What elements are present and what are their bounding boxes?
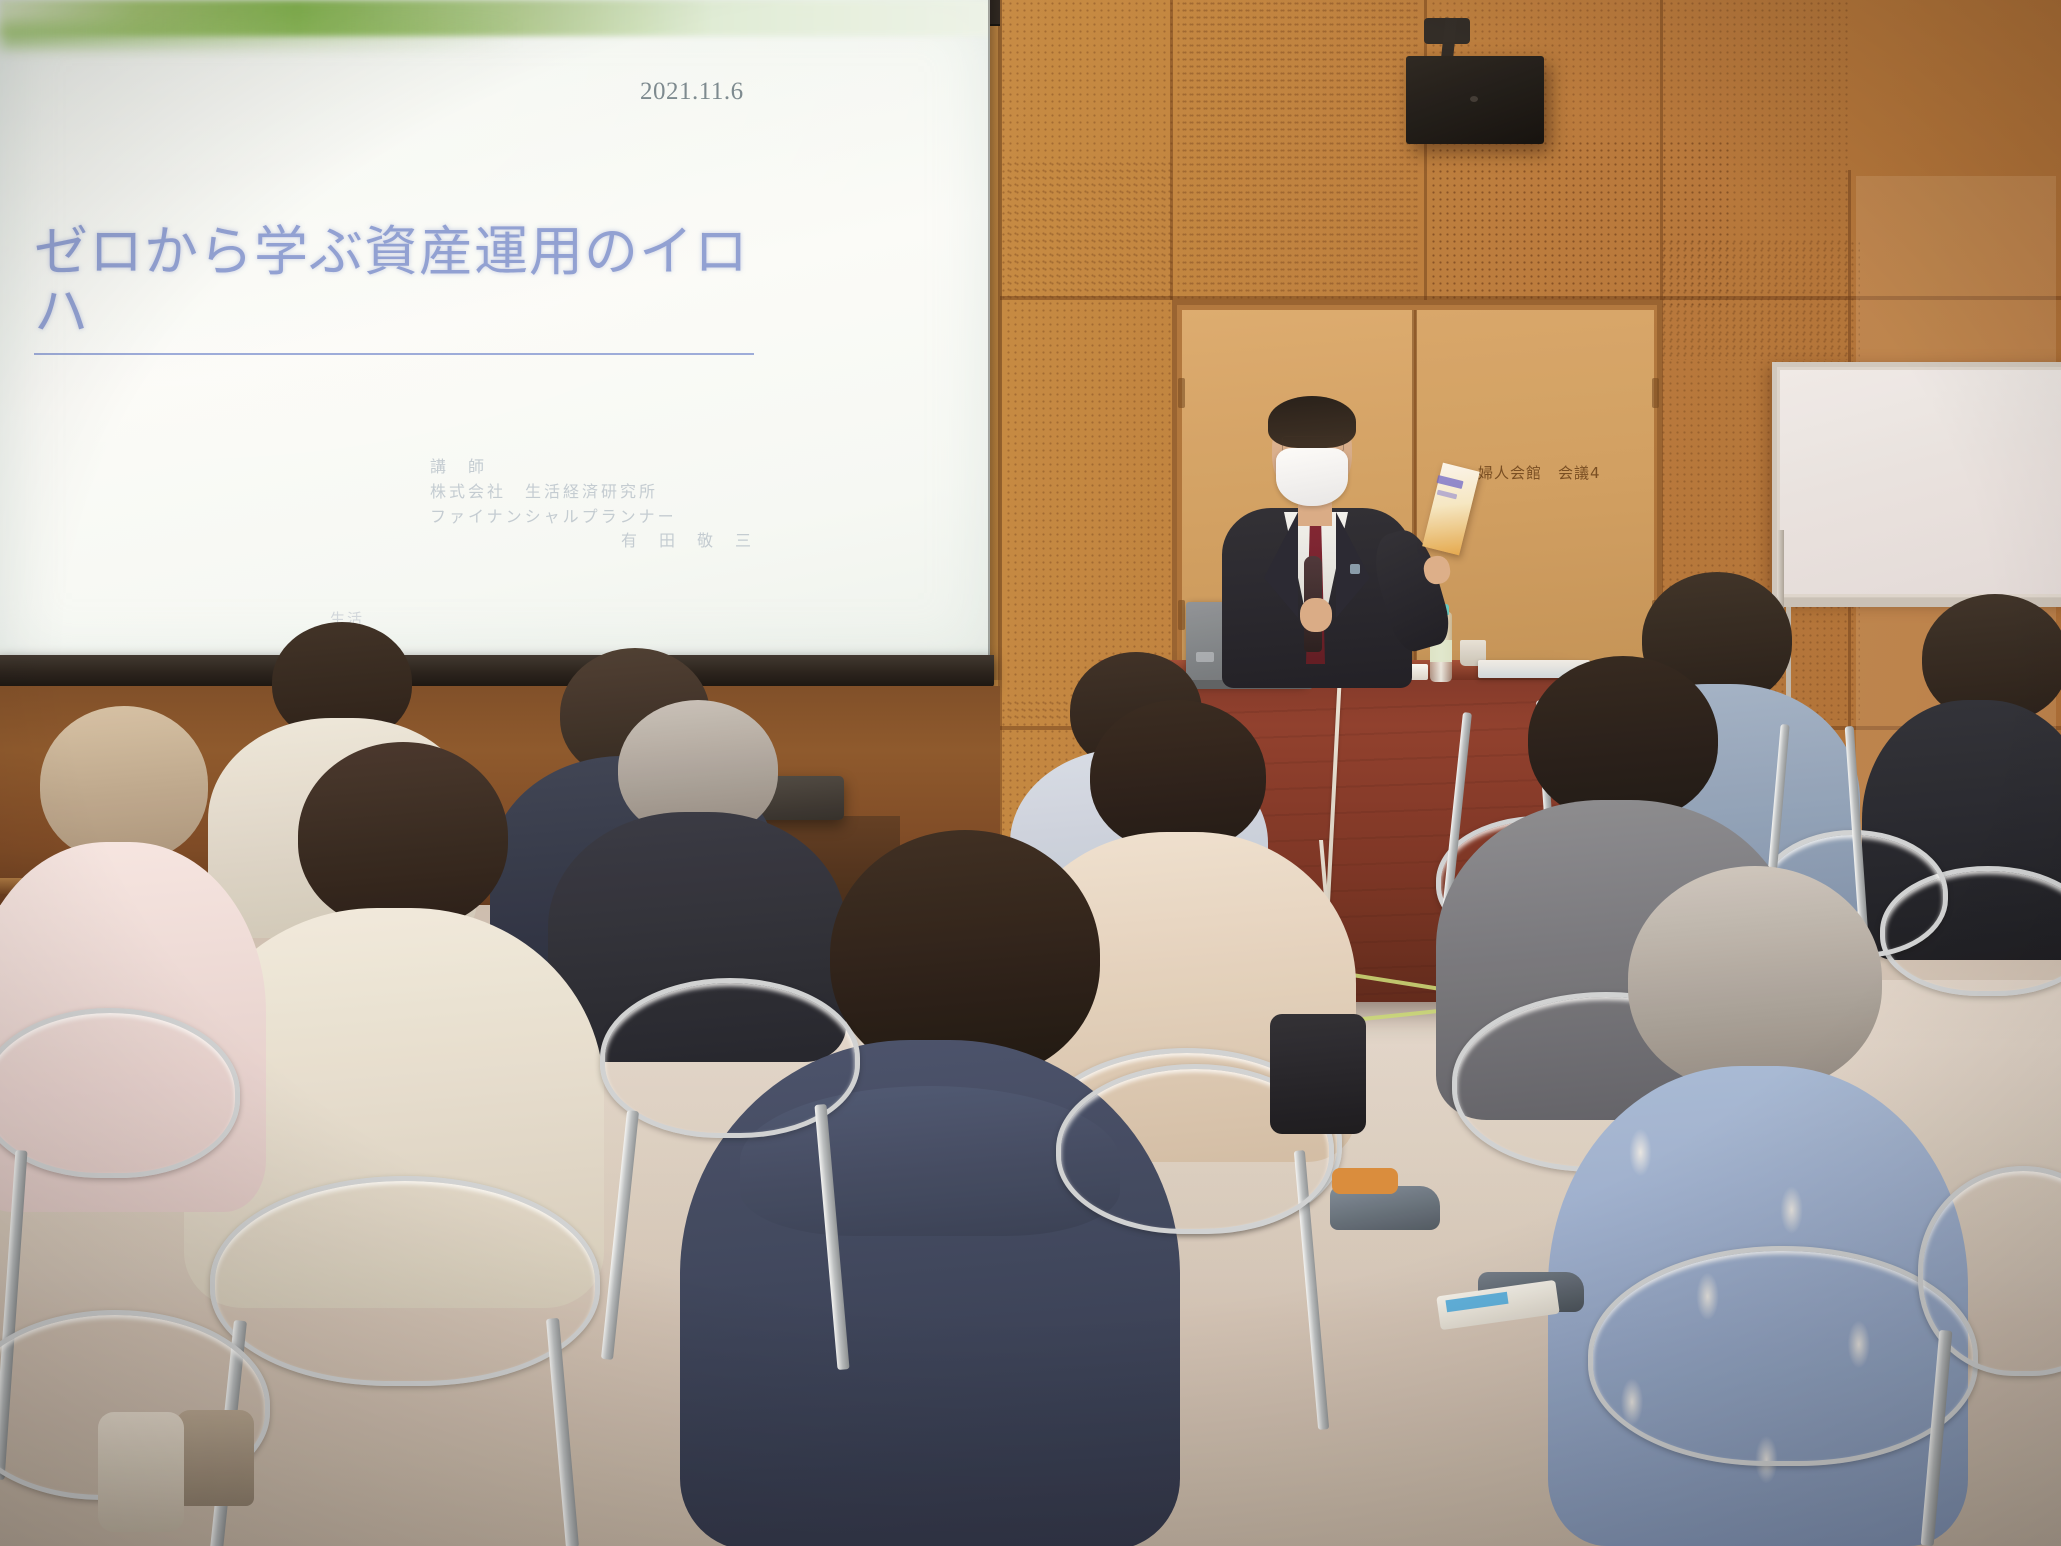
seminar-photograph: 婦人会館 会議4 2021.11.6 ゼロから学ぶ資産運用のイロハ 講 師 株式…: [0, 0, 2061, 1546]
wall-seam: [1424, 0, 1427, 300]
slide-credits: 講 師 株式会社 生活経済研究所 ファイナンシャルプランナー 有 田 敬 三: [430, 455, 760, 554]
slide-date: 2021.11.6: [640, 78, 744, 106]
slide-credit-line: 株式会社 生活経済研究所: [430, 480, 760, 505]
speaker-hand: [1300, 598, 1332, 632]
wall-seam: [1170, 0, 1173, 300]
slide-accent-band-soft: [0, 22, 520, 48]
attendee-head: [1528, 656, 1718, 822]
door-hinge-icon: [1178, 378, 1185, 408]
face-mask-icon: [1276, 448, 1348, 506]
acoustic-panel: [1180, 0, 1420, 292]
door-hinge-icon: [1178, 600, 1185, 630]
acoustic-panel: [1005, 160, 1175, 720]
slide-credit-line: ファイナンシャルプランナー: [430, 505, 760, 530]
slide-credit-line: 講 師: [430, 455, 760, 480]
attendee-head: [1628, 866, 1882, 1092]
attendee-head: [1090, 700, 1266, 852]
attendee-bag: [1270, 1014, 1366, 1134]
pa-speaker-driver-icon: [1470, 96, 1478, 102]
chair-back[interactable]: [0, 1008, 240, 1178]
screen-bottom-bar: [0, 655, 994, 687]
whiteboard-surface[interactable]: [1780, 370, 2061, 594]
chair-back[interactable]: [210, 1176, 600, 1386]
attendee-sock: [1332, 1168, 1398, 1194]
slide-presenter-name: 有 田 敬 三: [430, 529, 760, 554]
room-sign: 婦人会館 会議4: [1478, 462, 1601, 483]
screen-edge-shadow: [988, 0, 1002, 680]
attendee-head: [40, 706, 208, 862]
acoustic-panel: [1430, 140, 1730, 310]
attendee-head: [298, 742, 508, 930]
attendee-bag: [176, 1410, 254, 1506]
door-hinge-icon: [1652, 378, 1659, 408]
speaker-lapel-badge: [1350, 564, 1360, 574]
slide-title: ゼロから学ぶ資産運用のイロハ: [34, 222, 754, 355]
laptop-logo-icon: [1196, 652, 1214, 662]
attendee-shoe: [98, 1412, 184, 1532]
